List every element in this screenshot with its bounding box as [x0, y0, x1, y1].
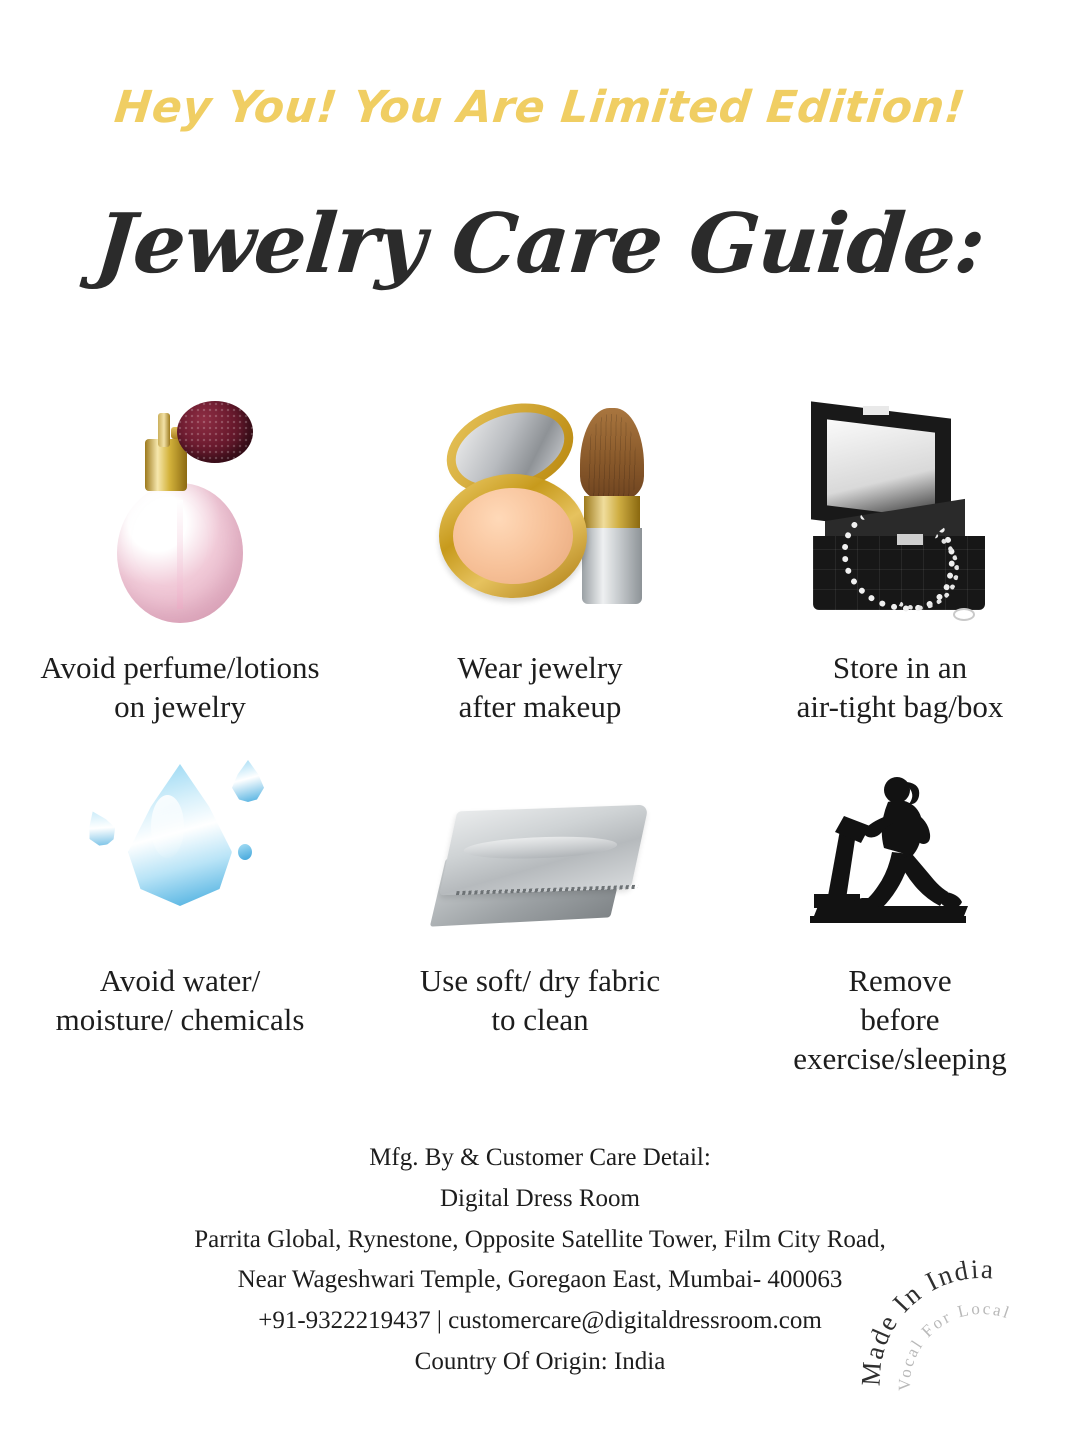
page-title: Jewelry Care Guide: [0, 196, 1080, 292]
jewelry-box-icon [720, 380, 1080, 630]
footer-line-company: Digital Dress Room [0, 1179, 1080, 1220]
jewelry-box-clasp [863, 406, 889, 415]
tip-caption-line: before [793, 1000, 1006, 1039]
brush-bristles [580, 408, 644, 500]
jewelry-box-lid-mirror [827, 419, 935, 518]
tip-use-soft-fabric: Use soft/ dry fabric to clean [360, 745, 720, 1080]
tip-caption: Wear jewelry after makeup [451, 648, 628, 726]
water-droplet-main [128, 764, 232, 906]
water-droplet-small-top [232, 760, 264, 802]
tip-caption-line: to clean [420, 1000, 660, 1039]
makeup-compact-brush-icon [360, 380, 720, 630]
made-in-india-badge: Made In India Vocal For Local [862, 1248, 1080, 1440]
tip-avoid-perfume: Avoid perfume/lotions on jewelry [0, 380, 360, 745]
tip-remove-before-exercise: Remove before exercise/sleeping [720, 745, 1080, 1080]
tip-caption-line: Use soft/ dry fabric [420, 961, 660, 1000]
tip-caption: Store in an air-tight bag/box [791, 648, 1010, 726]
tip-caption: Use soft/ dry fabric to clean [414, 961, 666, 1039]
tip-avoid-water: Avoid water/ moisture/ chemicals [0, 745, 360, 1080]
tip-caption-line: Remove [793, 961, 1006, 1000]
tip-caption-line: exercise/sleeping [793, 1039, 1006, 1078]
tip-caption-line: Store in an [797, 648, 1004, 687]
cleaning-cloth-icon [360, 745, 720, 935]
compact-base [439, 474, 587, 598]
tip-caption-line: air-tight bag/box [797, 687, 1004, 726]
compact-powder [453, 488, 573, 584]
perfume-bottle-icon [0, 380, 360, 630]
water-droplet-icon [0, 745, 360, 935]
jewelry-care-guide-page: Hey You! You Are Limited Edition! Jewelr… [0, 0, 1080, 1440]
tip-store-airtight: Store in an air-tight bag/box [720, 380, 1080, 745]
tip-caption-line: after makeup [457, 687, 622, 726]
water-droplet-tiny [238, 844, 252, 860]
jewelry-ring [953, 608, 975, 621]
perfume-stem [158, 413, 170, 447]
cloth-top-fold [439, 805, 649, 896]
brush-ferrule [584, 496, 640, 530]
tip-wear-after-makeup: Wear jewelry after makeup [360, 380, 720, 745]
tip-caption-line: Avoid water/ [56, 961, 305, 1000]
tip-caption: Remove before exercise/sleeping [787, 961, 1012, 1078]
brush-handle [582, 528, 642, 604]
perfume-atomizer-bulb [177, 401, 253, 463]
tip-caption-line: on jewelry [40, 687, 319, 726]
treadmill-runner-icon [720, 745, 1080, 935]
tip-caption: Avoid water/ moisture/ chemicals [50, 961, 311, 1039]
tip-caption-line: moisture/ chemicals [56, 1000, 305, 1039]
footer-line-mfg-label: Mfg. By & Customer Care Detail: [0, 1138, 1080, 1179]
tagline: Hey You! You Are Limited Edition! [0, 82, 1080, 133]
tip-caption-line: Avoid perfume/lotions [40, 648, 319, 687]
water-droplet-small-left [80, 806, 120, 850]
care-tips-grid: Avoid perfume/lotions on jewelry [0, 380, 1080, 1080]
tip-caption: Avoid perfume/lotions on jewelry [34, 648, 325, 726]
jewelry-box-lock [897, 534, 923, 545]
perfume-glass-body [117, 483, 243, 623]
tip-caption-line: Wear jewelry [457, 648, 622, 687]
